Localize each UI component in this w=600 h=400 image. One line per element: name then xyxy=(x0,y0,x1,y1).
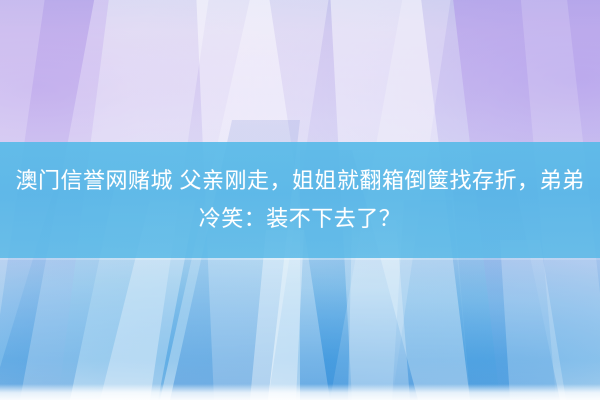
headline-banner-band: 澳门信誉网赌城 父亲刚走，姐姐就翻箱倒箧找存折，弟弟冷笑：装不下去了？ xyxy=(0,142,600,258)
headline-text: 澳门信誉网赌城 父亲刚走，姐姐就翻箱倒箧找存折，弟弟冷笑：装不下去了？ xyxy=(8,162,592,238)
banner-underline xyxy=(0,258,600,260)
bottom-light-strip xyxy=(0,384,600,400)
banner-image: 澳门信誉网赌城 父亲刚走，姐姐就翻箱倒箧找存折，弟弟冷笑：装不下去了？ xyxy=(0,0,600,400)
